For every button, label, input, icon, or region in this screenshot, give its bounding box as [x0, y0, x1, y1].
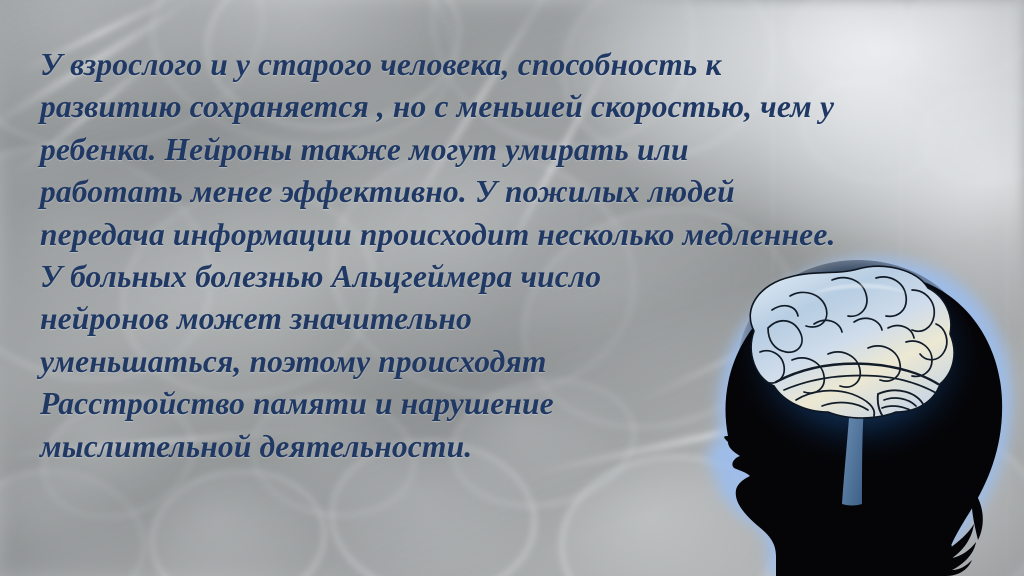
text-line: У больных болезнью Альцгеймера число: [40, 256, 980, 298]
text-line: ребенка. Нейроны также могут умирать или: [40, 129, 980, 171]
presentation-slide: У взрослого и у старого человека, способ…: [0, 0, 1024, 576]
text-line: развитию сохраняется , но с меньшей скор…: [40, 86, 980, 128]
text-line: Расстройство памяти и нарушение: [40, 383, 980, 425]
text-line: работать менее эффективно. У пожилых люд…: [40, 171, 980, 213]
text-line: уменьшаться, поэтому происходят: [40, 341, 980, 383]
slide-body-text: У взрослого и у старого человека, способ…: [40, 44, 980, 468]
text-line: нейронов может значительно: [40, 298, 980, 340]
text-line: передача информации происходит несколько…: [40, 214, 980, 256]
text-line: У взрослого и у старого человека, способ…: [40, 44, 980, 86]
text-line: мыслительной деятельности.: [40, 426, 980, 468]
